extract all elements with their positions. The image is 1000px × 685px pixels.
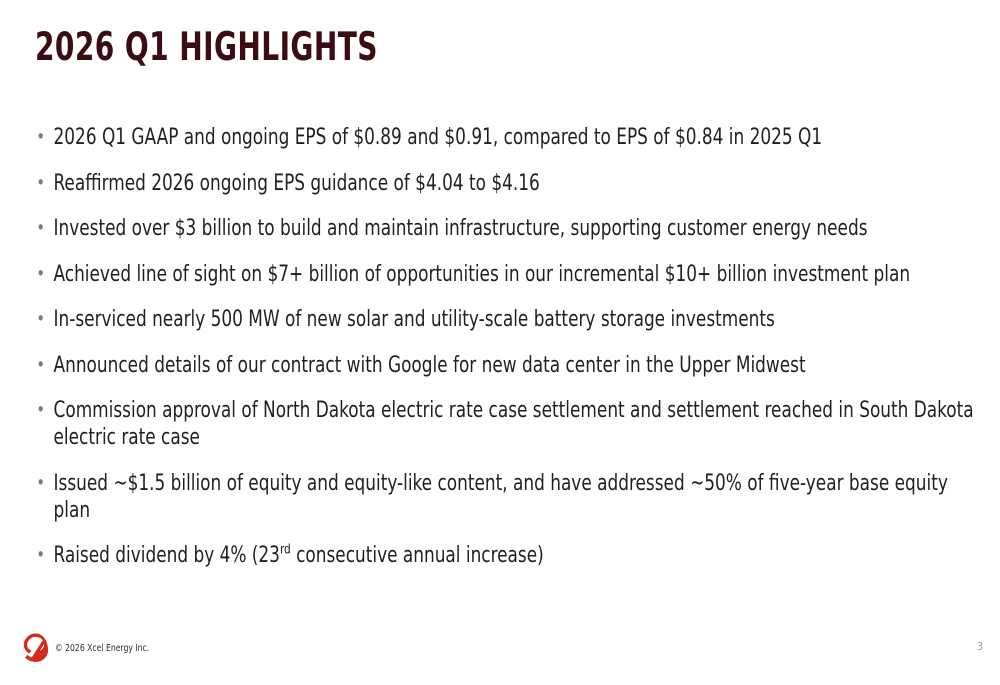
list-item: • Achieved line of sight on $7+ billion … — [33, 261, 984, 288]
bullet-marker-icon: • — [36, 352, 45, 379]
presentation-slide: 2026 Q1 HIGHLIGHTS • 2026 Q1 GAAP and on… — [0, 0, 1000, 685]
list-item-text: Invested over $3 billion to build and ma… — [54, 215, 984, 242]
list-item-text: Reaffirmed 2026 ongoing EPS guidance of … — [54, 170, 984, 197]
list-item-text: Issued ~$1.5 billion of equity and equit… — [54, 470, 984, 524]
xcel-energy-swirl-icon — [21, 632, 51, 663]
list-item-text: In-serviced nearly 500 MW of new solar a… — [54, 306, 984, 333]
bullet-marker-icon: • — [36, 261, 45, 288]
bullet-marker-icon: • — [36, 306, 45, 333]
bullet-marker-icon: • — [36, 470, 45, 497]
list-item: • Raised dividend by 4% (23rd consecutiv… — [33, 542, 984, 569]
bullet-marker-icon: • — [36, 170, 45, 197]
copyright-text: © 2026 Xcel Energy Inc. — [55, 643, 149, 655]
list-item-text: Announced details of our contract with G… — [54, 352, 984, 379]
list-item: • Issued ~$1.5 billion of equity and equ… — [33, 470, 984, 524]
list-item: • In-serviced nearly 500 MW of new solar… — [33, 306, 984, 333]
bullet-marker-icon: • — [36, 397, 45, 424]
list-item: • Announced details of our contract with… — [33, 352, 984, 379]
list-item-text: 2026 Q1 GAAP and ongoing EPS of $0.89 an… — [54, 124, 984, 151]
list-item: • Commission approval of North Dakota el… — [33, 397, 984, 451]
list-item: • 2026 Q1 GAAP and ongoing EPS of $0.89 … — [33, 124, 984, 151]
bullet-marker-icon: • — [36, 215, 45, 242]
page-number: 3 — [977, 640, 983, 654]
list-item-text: Achieved line of sight on $7+ billion of… — [54, 261, 984, 288]
list-item: • Invested over $3 billion to build and … — [33, 215, 984, 242]
page-title: 2026 Q1 HIGHLIGHTS — [35, 26, 378, 70]
ordinal-superscript: rd — [280, 542, 291, 558]
bullet-marker-icon: • — [36, 542, 45, 569]
bullet-marker-icon: • — [36, 124, 45, 151]
list-item-text-before-superscript: Raised dividend by 4% (23 — [54, 543, 280, 568]
list-item: • Reaffirmed 2026 ongoing EPS guidance o… — [33, 170, 984, 197]
list-item-text: Raised dividend by 4% (23rd consecutive … — [54, 542, 984, 569]
highlights-bullet-list: • 2026 Q1 GAAP and ongoing EPS of $0.89 … — [33, 124, 963, 588]
list-item-text: Commission approval of North Dakota elec… — [54, 397, 984, 451]
slide-footer: © 2026 Xcel Energy Inc. 3 — [0, 625, 1000, 685]
list-item-text-after-superscript: consecutive annual increase) — [291, 543, 544, 568]
